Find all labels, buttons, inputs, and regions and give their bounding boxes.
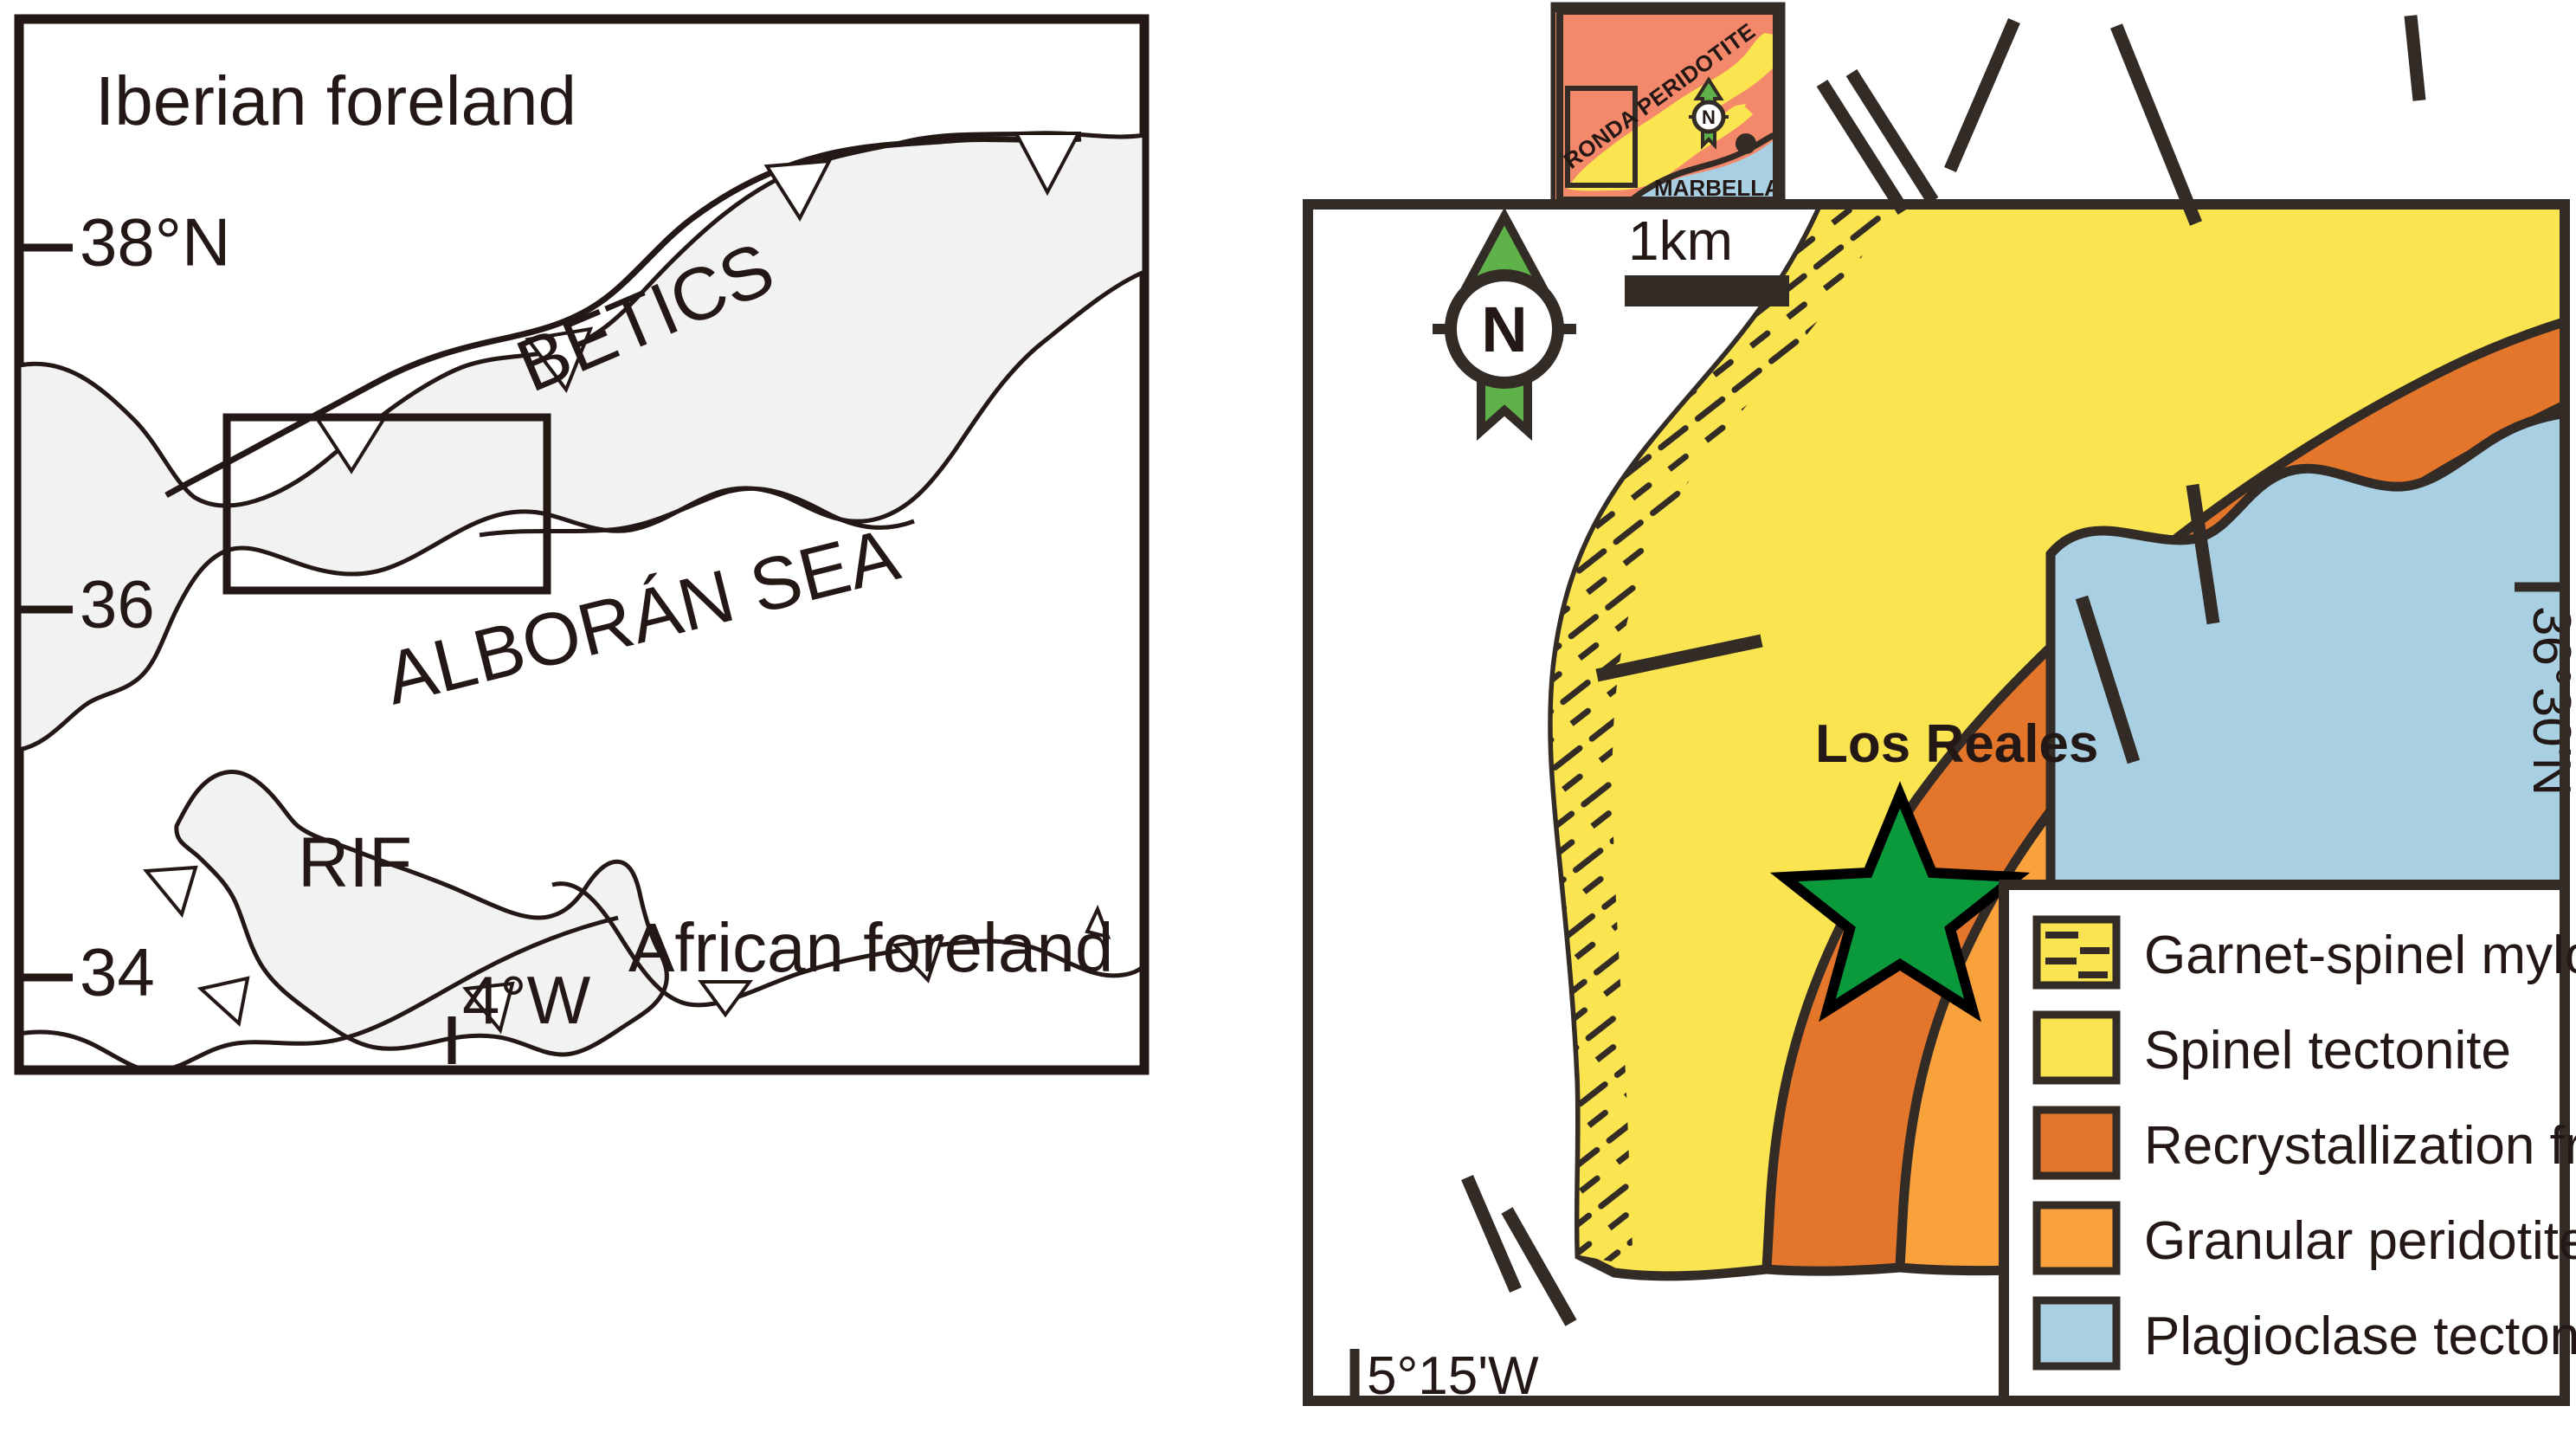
legend-item-recrystallization-front: Recrystallization front — [2037, 1110, 2576, 1176]
label-latitude-36: 36 — [80, 566, 155, 642]
legend-item-spinel-tectonite: Spinel tectonite — [2037, 1015, 2511, 1080]
north-arrow-label: N — [1481, 293, 1527, 365]
legend-swatch-plagioclase-tectonite — [2037, 1300, 2116, 1366]
label-african-foreland: African foreland — [628, 909, 1113, 986]
inset-marbella-dot — [1736, 133, 1756, 154]
legend-item-garnet-spinel-mylonite: Garnet-spinel mylonite — [2037, 919, 2576, 985]
label-iberian-foreland: Iberian foreland — [95, 62, 576, 139]
inset-north-arrow-label: N — [1702, 106, 1716, 128]
legend-item-plagioclase-tectonite: Plagioclase tectonite — [2037, 1300, 2576, 1366]
ronda-peridotite-locator-inset: N RONDA PERIDOTITE MARBELLA — [1555, 7, 1781, 204]
scale-bar-label: 1km — [1628, 210, 1733, 272]
lithology-legend: Garnet-spinel mylonite Spinel tectonite … — [2004, 885, 2576, 1401]
label-longitude-4w: 4°W — [462, 962, 591, 1038]
label-rif: RIF — [298, 823, 412, 902]
label-latitude-34: 34 — [80, 934, 155, 1010]
label-los-reales: Los Reales — [1815, 714, 2098, 774]
legend-label-spinel-tectonite: Spinel tectonite — [2144, 1021, 2511, 1080]
legend-label-plagioclase-tectonite: Plagioclase tectonite — [2144, 1306, 2576, 1366]
ronda-peridotite-detail-panel: Los Reales 1km N 36°30'N 5°15'W — [1303, 0, 2576, 1432]
legend-swatch-recrystallization-front — [2037, 1110, 2116, 1176]
legend-label-granular-peridotite: Granular peridotite — [2144, 1211, 2576, 1271]
legend-item-granular-peridotite: Granular peridotite — [2037, 1205, 2576, 1271]
legend-swatch-spinel-tectonite — [2037, 1015, 2116, 1080]
legend-label-recrystallization-front: Recrystallization front — [2144, 1116, 2576, 1176]
legend-label-garnet-spinel-mylonite: Garnet-spinel mylonite — [2144, 926, 2576, 985]
regional-tectonic-map-panel: 38°N 36 34 4°W Iberian foreland BETICS A… — [12, 12, 1151, 1077]
scale-bar — [1625, 275, 1789, 306]
label-latitude-38n: 38°N — [80, 204, 230, 281]
legend-swatch-granular-peridotite — [2037, 1205, 2116, 1271]
